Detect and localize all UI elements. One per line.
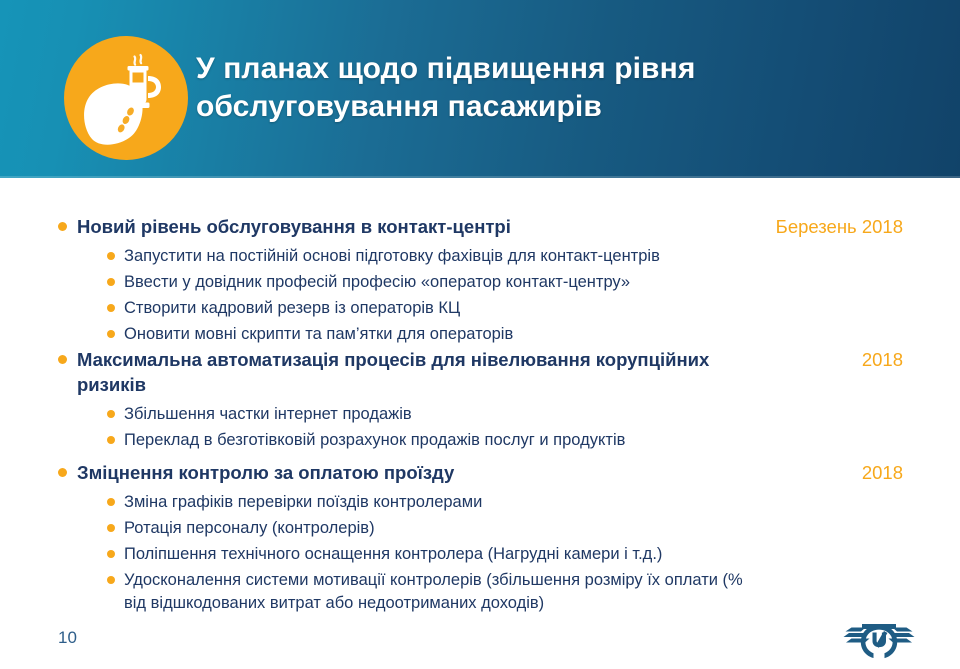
slide-header-band: У планах щодо підвищення рівня обслугову… — [0, 0, 960, 178]
section-heading: Максимальна автоматизація процесів для н… — [58, 347, 903, 397]
list-item: Запустити на постійній основі підготовку… — [107, 245, 903, 268]
list-item: Ввести у довідник професій професію «опе… — [107, 271, 903, 294]
list-item-label: Переклад в безготівковій розрахунок прод… — [124, 429, 764, 452]
section-title: Максимальна автоматизація процесів для н… — [77, 347, 717, 397]
page-title-line-1: У планах щодо підвищення рівня — [196, 50, 896, 88]
section-item-list: Зміна графіків перевірки поїздів контрол… — [107, 491, 903, 615]
section-bullet-icon — [58, 222, 67, 231]
ukrzaliznytsia-winged-wheel-logo — [843, 622, 915, 662]
list-item-label: Зміна графіків перевірки поїздів контрол… — [124, 491, 764, 514]
list-item: Створити кадровий резерв із операторів К… — [107, 297, 903, 320]
page-title: У планах щодо підвищення рівня обслугову… — [196, 50, 896, 126]
content-section: Зміцнення контролю за оплатою проїзду 20… — [58, 460, 903, 618]
list-item-label: Збільшення частки інтернет продажів — [124, 403, 764, 426]
list-bullet-icon — [107, 252, 115, 260]
section-bullet-icon — [58, 355, 67, 364]
section-date: Березень 2018 — [776, 214, 903, 239]
list-item: Збільшення частки інтернет продажів — [107, 403, 903, 426]
content-section: Максимальна автоматизація процесів для н… — [58, 347, 903, 455]
page-number: 10 — [58, 628, 77, 648]
list-bullet-icon — [107, 330, 115, 338]
content-section: Новий рівень обслуговування в контакт-це… — [58, 214, 903, 349]
list-item-label: Удосконалення системи мотивації контроле… — [124, 569, 764, 615]
list-item-label: Поліпшення технічного оснащення контроле… — [124, 543, 764, 566]
header-icon — [64, 36, 188, 160]
list-bullet-icon — [107, 304, 115, 312]
list-item: Удосконалення системи мотивації контроле… — [107, 569, 903, 615]
list-item: Поліпшення технічного оснащення контроле… — [107, 543, 903, 566]
list-item-label: Оновити мовні скрипти та пам’ятки для оп… — [124, 323, 764, 346]
list-item-label: Ротація персоналу (контролерів) — [124, 517, 764, 540]
list-bullet-icon — [107, 278, 115, 286]
slide-body: Новий рівень обслуговування в контакт-це… — [0, 178, 960, 669]
section-item-list: Збільшення частки інтернет продажів Пере… — [107, 403, 903, 452]
list-bullet-icon — [107, 524, 115, 532]
section-bullet-icon — [58, 468, 67, 477]
section-item-list: Запустити на постійній основі підготовку… — [107, 245, 903, 346]
list-bullet-icon — [107, 576, 115, 584]
section-date: 2018 — [862, 460, 903, 485]
list-item: Переклад в безготівковій розрахунок прод… — [107, 429, 903, 452]
list-item-label: Запустити на постійній основі підготовку… — [124, 245, 764, 268]
list-item: Зміна графіків перевірки поїздів контрол… — [107, 491, 903, 514]
list-item: Ротація персоналу (контролерів) — [107, 517, 903, 540]
pillow-and-tea-cup-icon — [64, 36, 188, 160]
list-bullet-icon — [107, 498, 115, 506]
list-item-label: Створити кадровий резерв із операторів К… — [124, 297, 764, 320]
section-title: Новий рівень обслуговування в контакт-це… — [77, 214, 717, 239]
section-heading: Зміцнення контролю за оплатою проїзду 20… — [58, 460, 903, 485]
list-item: Оновити мовні скрипти та пам’ятки для оп… — [107, 323, 903, 346]
section-title: Зміцнення контролю за оплатою проїзду — [77, 460, 717, 485]
slide: У планах щодо підвищення рівня обслугову… — [0, 0, 960, 669]
page-title-line-2: обслуговування пасажирів — [196, 88, 896, 126]
list-item-label: Ввести у довідник професій професію «опе… — [124, 271, 764, 294]
list-bullet-icon — [107, 436, 115, 444]
list-bullet-icon — [107, 410, 115, 418]
section-heading: Новий рівень обслуговування в контакт-це… — [58, 214, 903, 239]
list-bullet-icon — [107, 550, 115, 558]
section-date: 2018 — [862, 347, 903, 372]
